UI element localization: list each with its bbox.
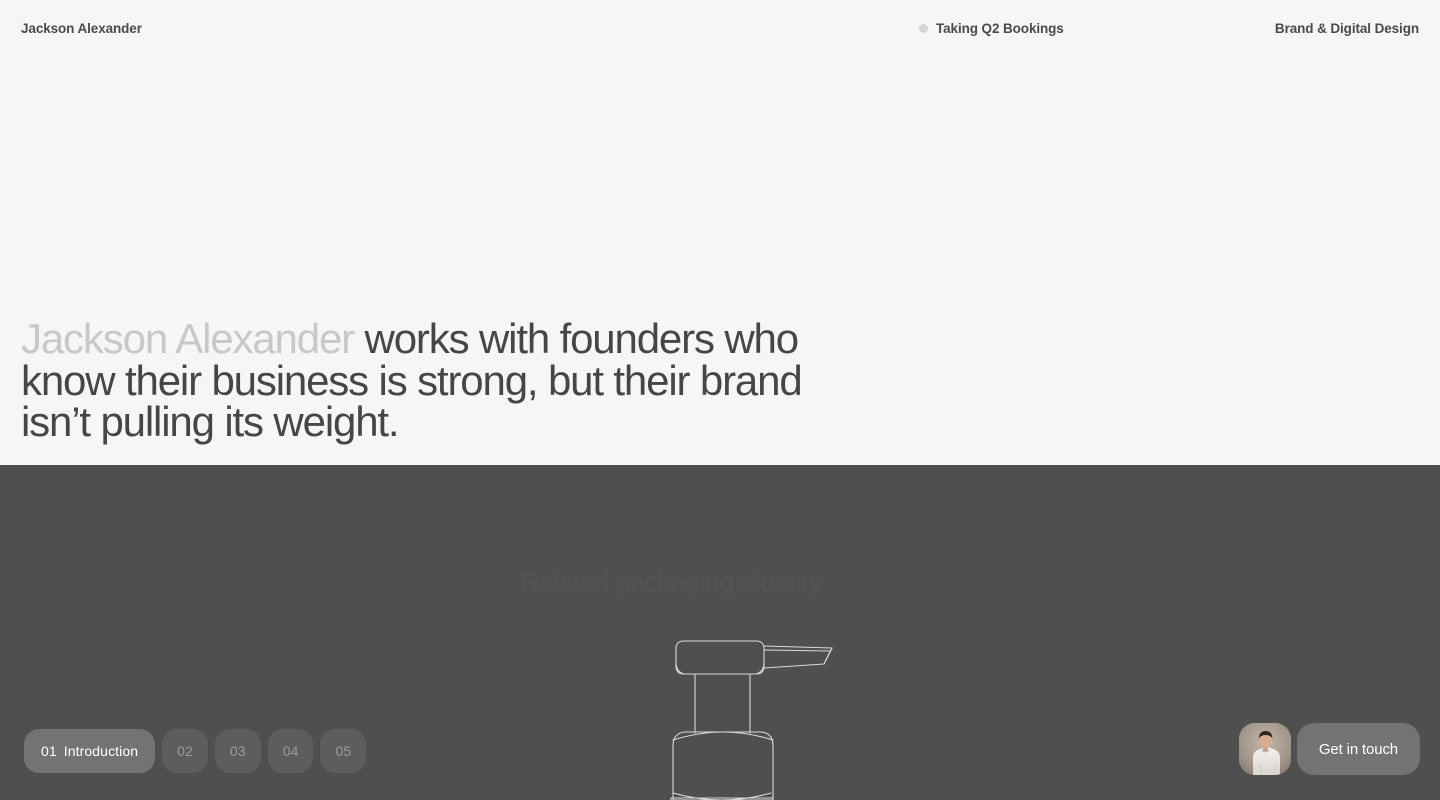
- chapter-pill-02[interactable]: 02: [162, 729, 208, 773]
- hero-headline-name: Jackson Alexander: [21, 315, 354, 362]
- chapter-pill-04-number: 04: [283, 743, 299, 759]
- get-in-touch-button[interactable]: Get in touch: [1297, 723, 1420, 775]
- chapter-pill-05[interactable]: 05: [320, 729, 366, 773]
- landing-page: Jackson Alexander Taking Q2 Bookings Bra…: [0, 0, 1440, 800]
- chapter-pill-05-number: 05: [335, 743, 351, 759]
- top-navigation-bar: Jackson Alexander Taking Q2 Bookings Bra…: [0, 0, 1440, 58]
- chapter-pill-03-number: 03: [230, 743, 246, 759]
- hero-section: Jackson Alexander Taking Q2 Bookings Bra…: [0, 0, 1440, 465]
- discipline-label: Brand & Digital Design: [1275, 21, 1419, 36]
- chapter-pill-04[interactable]: 04: [268, 729, 314, 773]
- avatar-portrait: [1239, 723, 1291, 775]
- chapter-pill-01-label: Introduction: [64, 743, 138, 759]
- brand-name[interactable]: Jackson Alexander: [21, 21, 142, 36]
- chapter-pill-01-number: 01: [41, 743, 57, 759]
- chapter-pill-03[interactable]: 03: [215, 729, 261, 773]
- contact-cta-group: Get in touch: [1239, 723, 1420, 775]
- avatar[interactable]: [1239, 723, 1291, 775]
- availability-status: Taking Q2 Bookings: [919, 21, 1064, 36]
- availability-status-label: Taking Q2 Bookings: [936, 21, 1064, 36]
- chapter-pill-01[interactable]: 01 Introduction: [24, 729, 155, 773]
- hero-headline: Jackson Alexander works with founders wh…: [21, 318, 821, 443]
- pump-bottle-illustration: [430, 590, 1010, 800]
- chapter-navigation: 01 Introduction 02 03 04 05: [24, 729, 366, 773]
- status-dot-icon: [919, 24, 928, 33]
- chapter-pill-02-number: 02: [177, 743, 193, 759]
